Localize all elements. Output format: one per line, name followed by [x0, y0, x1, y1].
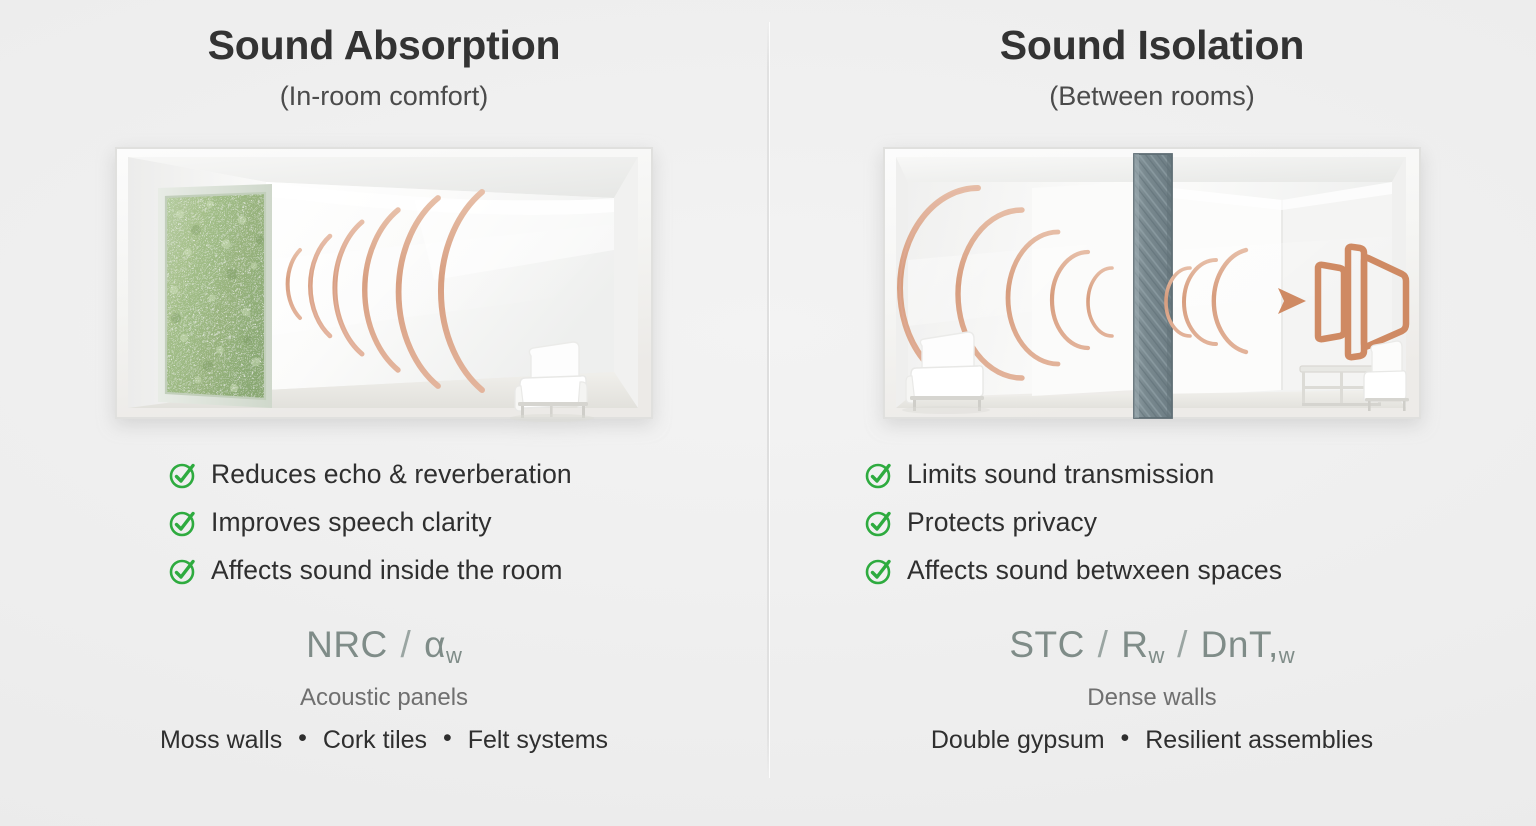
- metric-primary: STC: [1009, 624, 1085, 665]
- metric-secondary-subscript: w: [1148, 643, 1164, 668]
- benefits-list-absorption: Reduces echo & reverberation Improves sp…: [168, 459, 572, 586]
- check-circle-icon: [864, 508, 894, 538]
- list-item-label: Improves speech clarity: [211, 507, 492, 538]
- list-item: Affects sound betwxeen spaces: [864, 555, 1282, 586]
- sub-note: Dense walls: [1087, 684, 1216, 712]
- list-item: Protects privacy: [864, 507, 1282, 538]
- moss-wall-panel: [158, 184, 274, 410]
- examples-absorption: Moss walls • Cork tiles • Felt systems: [160, 726, 608, 755]
- check-circle-icon: [864, 460, 894, 490]
- column-subtitle: (In-room comfort): [280, 81, 489, 112]
- column-title: Sound Isolation: [1000, 22, 1304, 69]
- metric-secondary-subscript: w: [446, 643, 462, 668]
- example-item: Moss walls: [160, 726, 282, 754]
- example-item: Felt systems: [468, 726, 608, 754]
- comparison-infographic: Sound Absorption (In-room comfort): [0, 0, 1536, 826]
- metric-tertiary-subscript: w: [1279, 643, 1295, 668]
- metric-separator: /: [1096, 624, 1111, 665]
- list-item-label: Limits sound transmission: [907, 459, 1214, 490]
- check-circle-icon: [168, 508, 198, 538]
- check-circle-icon: [168, 460, 198, 490]
- illustration-two-rooms-with-partition: [882, 140, 1422, 425]
- column-sound-absorption: Sound Absorption (In-room comfort): [0, 0, 768, 826]
- example-separator: •: [434, 724, 461, 753]
- list-item-label: Reduces echo & reverberation: [211, 459, 572, 490]
- list-item: Limits sound transmission: [864, 459, 1282, 490]
- metric-separator: /: [399, 624, 414, 665]
- metric-separator: /: [1175, 624, 1190, 665]
- moss-room-scene: [114, 140, 654, 425]
- sub-note: Acoustic panels: [300, 684, 468, 712]
- partition-rooms-scene: [882, 140, 1422, 425]
- example-separator: •: [1112, 724, 1139, 753]
- partition-wall-hatched: [1134, 154, 1172, 418]
- list-item: Reduces echo & reverberation: [168, 459, 572, 490]
- example-item: Cork tiles: [323, 726, 427, 754]
- metric-labels-isolation: STC / Rw / DnT,w: [1009, 624, 1294, 666]
- list-item-label: Affects sound inside the room: [211, 555, 563, 586]
- column-title: Sound Absorption: [208, 22, 561, 69]
- column-subtitle: (Between rooms): [1049, 81, 1255, 112]
- check-circle-icon: [168, 556, 198, 586]
- example-separator: •: [289, 724, 316, 753]
- list-item-label: Protects privacy: [907, 507, 1097, 538]
- illustration-room-with-moss-wall: [114, 140, 654, 425]
- example-item: Resilient assemblies: [1145, 726, 1373, 754]
- column-sound-isolation: Sound Isolation (Between rooms): [768, 0, 1536, 826]
- list-item-label: Affects sound betwxeen spaces: [907, 555, 1282, 586]
- list-item: Improves speech clarity: [168, 507, 572, 538]
- example-item: Double gypsum: [931, 726, 1105, 754]
- examples-isolation: Double gypsum • Resilient assemblies: [931, 726, 1373, 755]
- metric-secondary: R: [1121, 624, 1148, 665]
- check-circle-icon: [864, 556, 894, 586]
- benefits-list-isolation: Limits sound transmission Protects priva…: [864, 459, 1282, 586]
- metric-secondary: α: [424, 624, 446, 665]
- metric-labels-absorption: NRC / αw: [306, 624, 462, 666]
- metric-tertiary: DnT,: [1201, 624, 1279, 665]
- metric-primary: NRC: [306, 624, 388, 665]
- list-item: Affects sound inside the room: [168, 555, 572, 586]
